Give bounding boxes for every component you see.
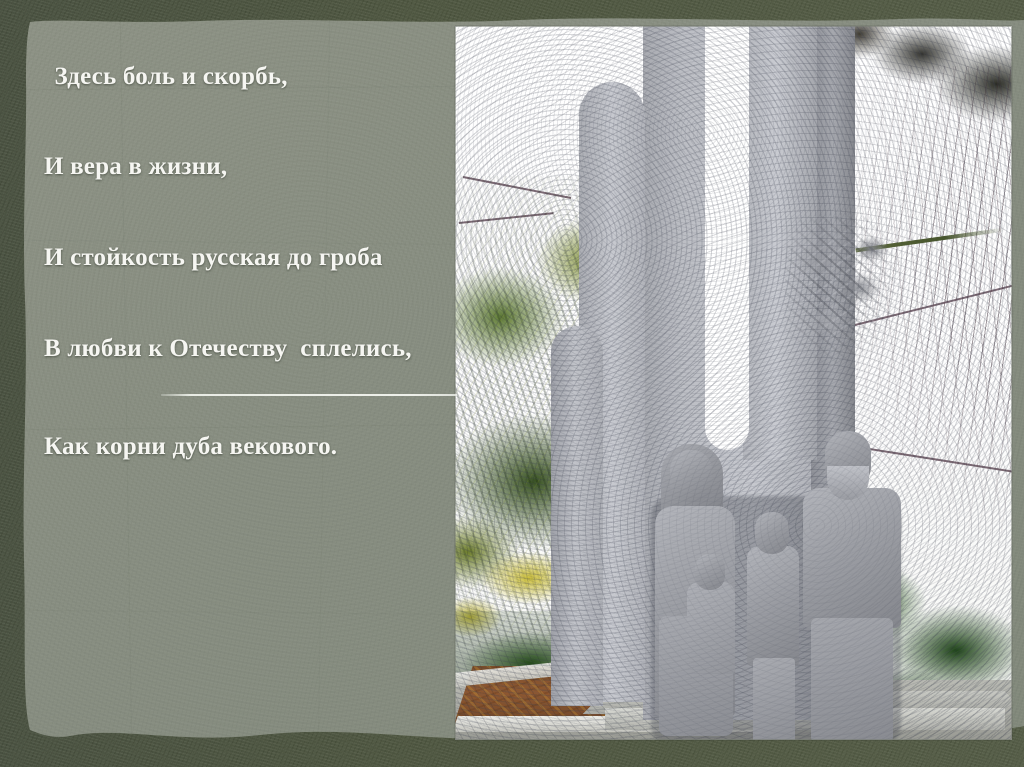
figure-boy-legs <box>753 658 795 740</box>
figure-boy-head <box>755 512 789 554</box>
horizontal-rule <box>161 394 457 396</box>
figure-woman-head <box>670 450 712 502</box>
poem-line-4: В любви к Отечеству сплелись, <box>44 334 412 364</box>
poem-line-2: И вера в жизни, <box>44 152 227 182</box>
poem-line-3: И стойкость русская до гроба <box>44 243 383 273</box>
monument-prong <box>551 326 603 706</box>
poem-line-1: Здесь боль и скорбь, <box>48 62 288 92</box>
photo-content <box>455 26 1012 740</box>
monument-notch <box>705 26 749 450</box>
slide: Здесь боль и скорбь, И вера в жизни, И с… <box>0 0 1024 767</box>
figure-child-body <box>687 582 735 674</box>
figure-man-body <box>803 488 901 628</box>
poem-line-5: Как корни дуба векового. <box>44 432 337 462</box>
figure-child-head <box>695 554 725 590</box>
poem-block: Здесь боль и скорбь, И вера в жизни, И с… <box>0 0 460 767</box>
oak-leaf-texture <box>785 216 905 366</box>
memorial-photo <box>455 26 1012 740</box>
figure-man-legs <box>811 618 893 740</box>
figure-boy-body <box>747 546 799 666</box>
